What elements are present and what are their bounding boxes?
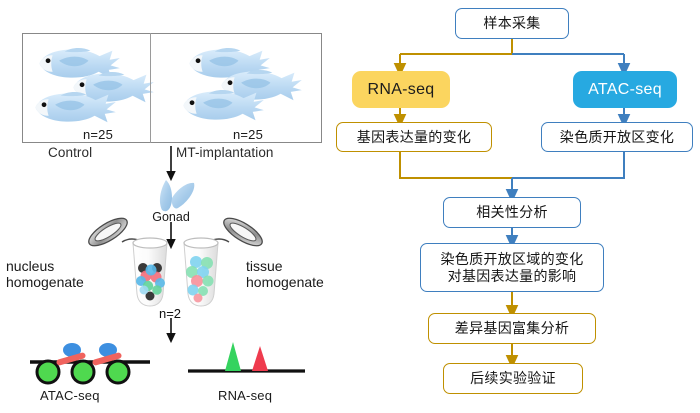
flow-node-impact-line2: 对基因表达量的影响	[448, 268, 577, 285]
replicate-count-label: n=2	[140, 306, 200, 321]
atac-seq-schematic	[30, 343, 150, 383]
gonad-label: Gonad	[136, 210, 206, 224]
flow-node-chromatin-open-change-label: 染色质开放区变化	[560, 129, 674, 146]
flow-node-validation[interactable]: 后续实验验证	[443, 363, 583, 394]
figure-canvas: n=25	[0, 0, 700, 413]
flow-node-correlation-analysis-label: 相关性分析	[476, 204, 548, 221]
flow-node-chromatin-open-change[interactable]: 染色质开放区变化	[541, 122, 693, 152]
flow-node-validation-label: 后续实验验证	[470, 370, 556, 387]
flow-node-sampling-label: 样本采集	[483, 15, 540, 32]
assay-caption-rna: RNA-seq	[218, 388, 272, 403]
flow-node-sampling[interactable]: 样本采集	[455, 8, 569, 39]
flow-node-correlation-analysis[interactable]: 相关性分析	[443, 197, 581, 228]
left-panel-graphics	[0, 0, 370, 413]
flow-node-deg-enrichment[interactable]: 差异基因富集分析	[428, 313, 596, 344]
tube-nucleus-homogenate	[85, 213, 167, 306]
flow-node-gene-expression-change[interactable]: 基因表达量的变化	[336, 122, 492, 152]
flow-node-impact-line1: 染色质开放区域的变化	[441, 251, 584, 268]
flow-node-rna-seq[interactable]: RNA-seq	[352, 71, 450, 108]
experiment-panel: n=25	[0, 0, 370, 413]
flow-node-rna-seq-label: RNA-seq	[367, 81, 434, 98]
analysis-flowchart: 样本采集 RNA-seq ATAC-seq 基因表达量的变化 染色质开放区变化 …	[330, 0, 700, 413]
flow-node-gene-expression-change-label: 基因表达量的变化	[357, 129, 471, 146]
tube-label-nucleus: nucleus homogenate	[6, 258, 84, 290]
flow-node-impact[interactable]: 染色质开放区域的变化 对基因表达量的影响	[420, 243, 604, 292]
tube-label-tissue-line1: tissue	[246, 258, 283, 274]
tube-label-tissue-line2: homogenate	[246, 274, 324, 290]
tube-label-nucleus-line1: nucleus	[6, 258, 54, 274]
gonad-illustration	[160, 180, 194, 211]
assay-caption-atac: ATAC-seq	[40, 388, 100, 403]
rna-seq-schematic	[188, 342, 305, 371]
flow-node-atac-seq[interactable]: ATAC-seq	[573, 71, 677, 108]
tube-label-nucleus-line2: homogenate	[6, 274, 84, 290]
flow-node-deg-enrichment-label: 差异基因富集分析	[455, 320, 569, 337]
tube-label-tissue: tissue homogenate	[246, 258, 324, 290]
flow-node-atac-seq-label: ATAC-seq	[588, 81, 662, 98]
